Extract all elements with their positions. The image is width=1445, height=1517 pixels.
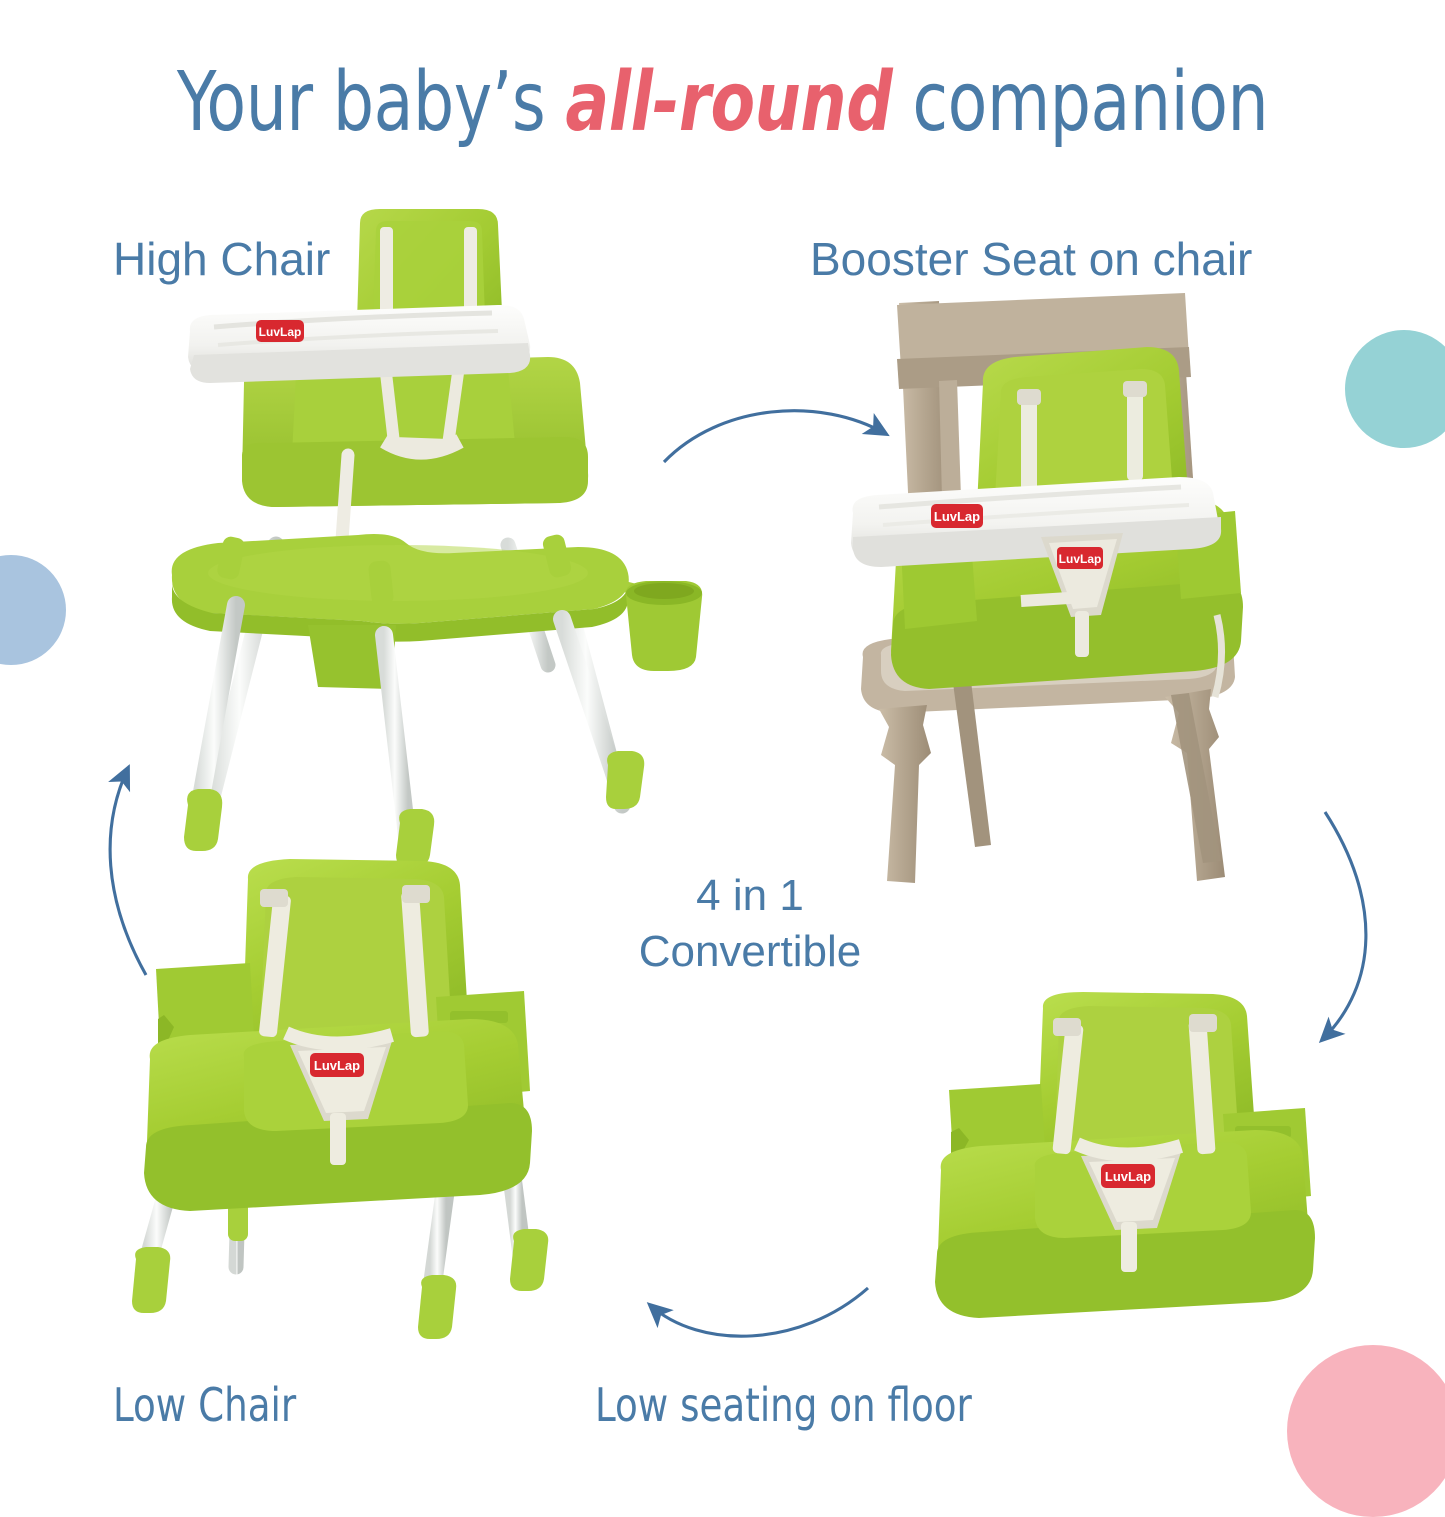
label-low-chair: Low Chair [113,1378,296,1432]
luvlap-logo-text-harness: LuvLap [1059,552,1102,566]
arrow-booster-to-floor-seat [1322,812,1366,1040]
convertible-line-2: Convertible [530,924,970,980]
product-high-chair: LuvLap [148,205,708,880]
luvlap-logo-text-floor-seat: LuvLap [1105,1169,1151,1184]
title-part-after: companion [892,55,1268,150]
title-accent: all-round [565,55,892,150]
title-part-before: Your baby’s [177,55,566,150]
high-chair-cup-holder [610,581,702,671]
high-chair-tray: LuvLap [188,305,530,383]
luvlap-logo-text-tray: LuvLap [934,509,980,524]
page-title: Your baby’s all-round companion [87,62,1359,144]
luvlap-logo-text-high-chair: LuvLap [259,325,302,339]
infographic-canvas: Your baby’s all-round companion High Cha… [0,0,1445,1445]
luvlap-logo-text-low-chair: LuvLap [314,1058,360,1073]
decorative-circle-pink [1287,1345,1445,1517]
label-low-seating-on-floor: Low seating on floor [595,1378,972,1432]
decorative-circle-teal [1345,330,1445,448]
product-floor-seat: LuvLap [905,990,1315,1360]
product-booster-seat: LuvLap LuvLap [835,285,1285,925]
label-booster-seat: Booster Seat on chair [810,232,1252,286]
product-low-chair: LuvLap [110,855,560,1360]
decorative-circle-blue [0,555,66,665]
arrow-floor-seat-to-low-chair [650,1288,868,1336]
